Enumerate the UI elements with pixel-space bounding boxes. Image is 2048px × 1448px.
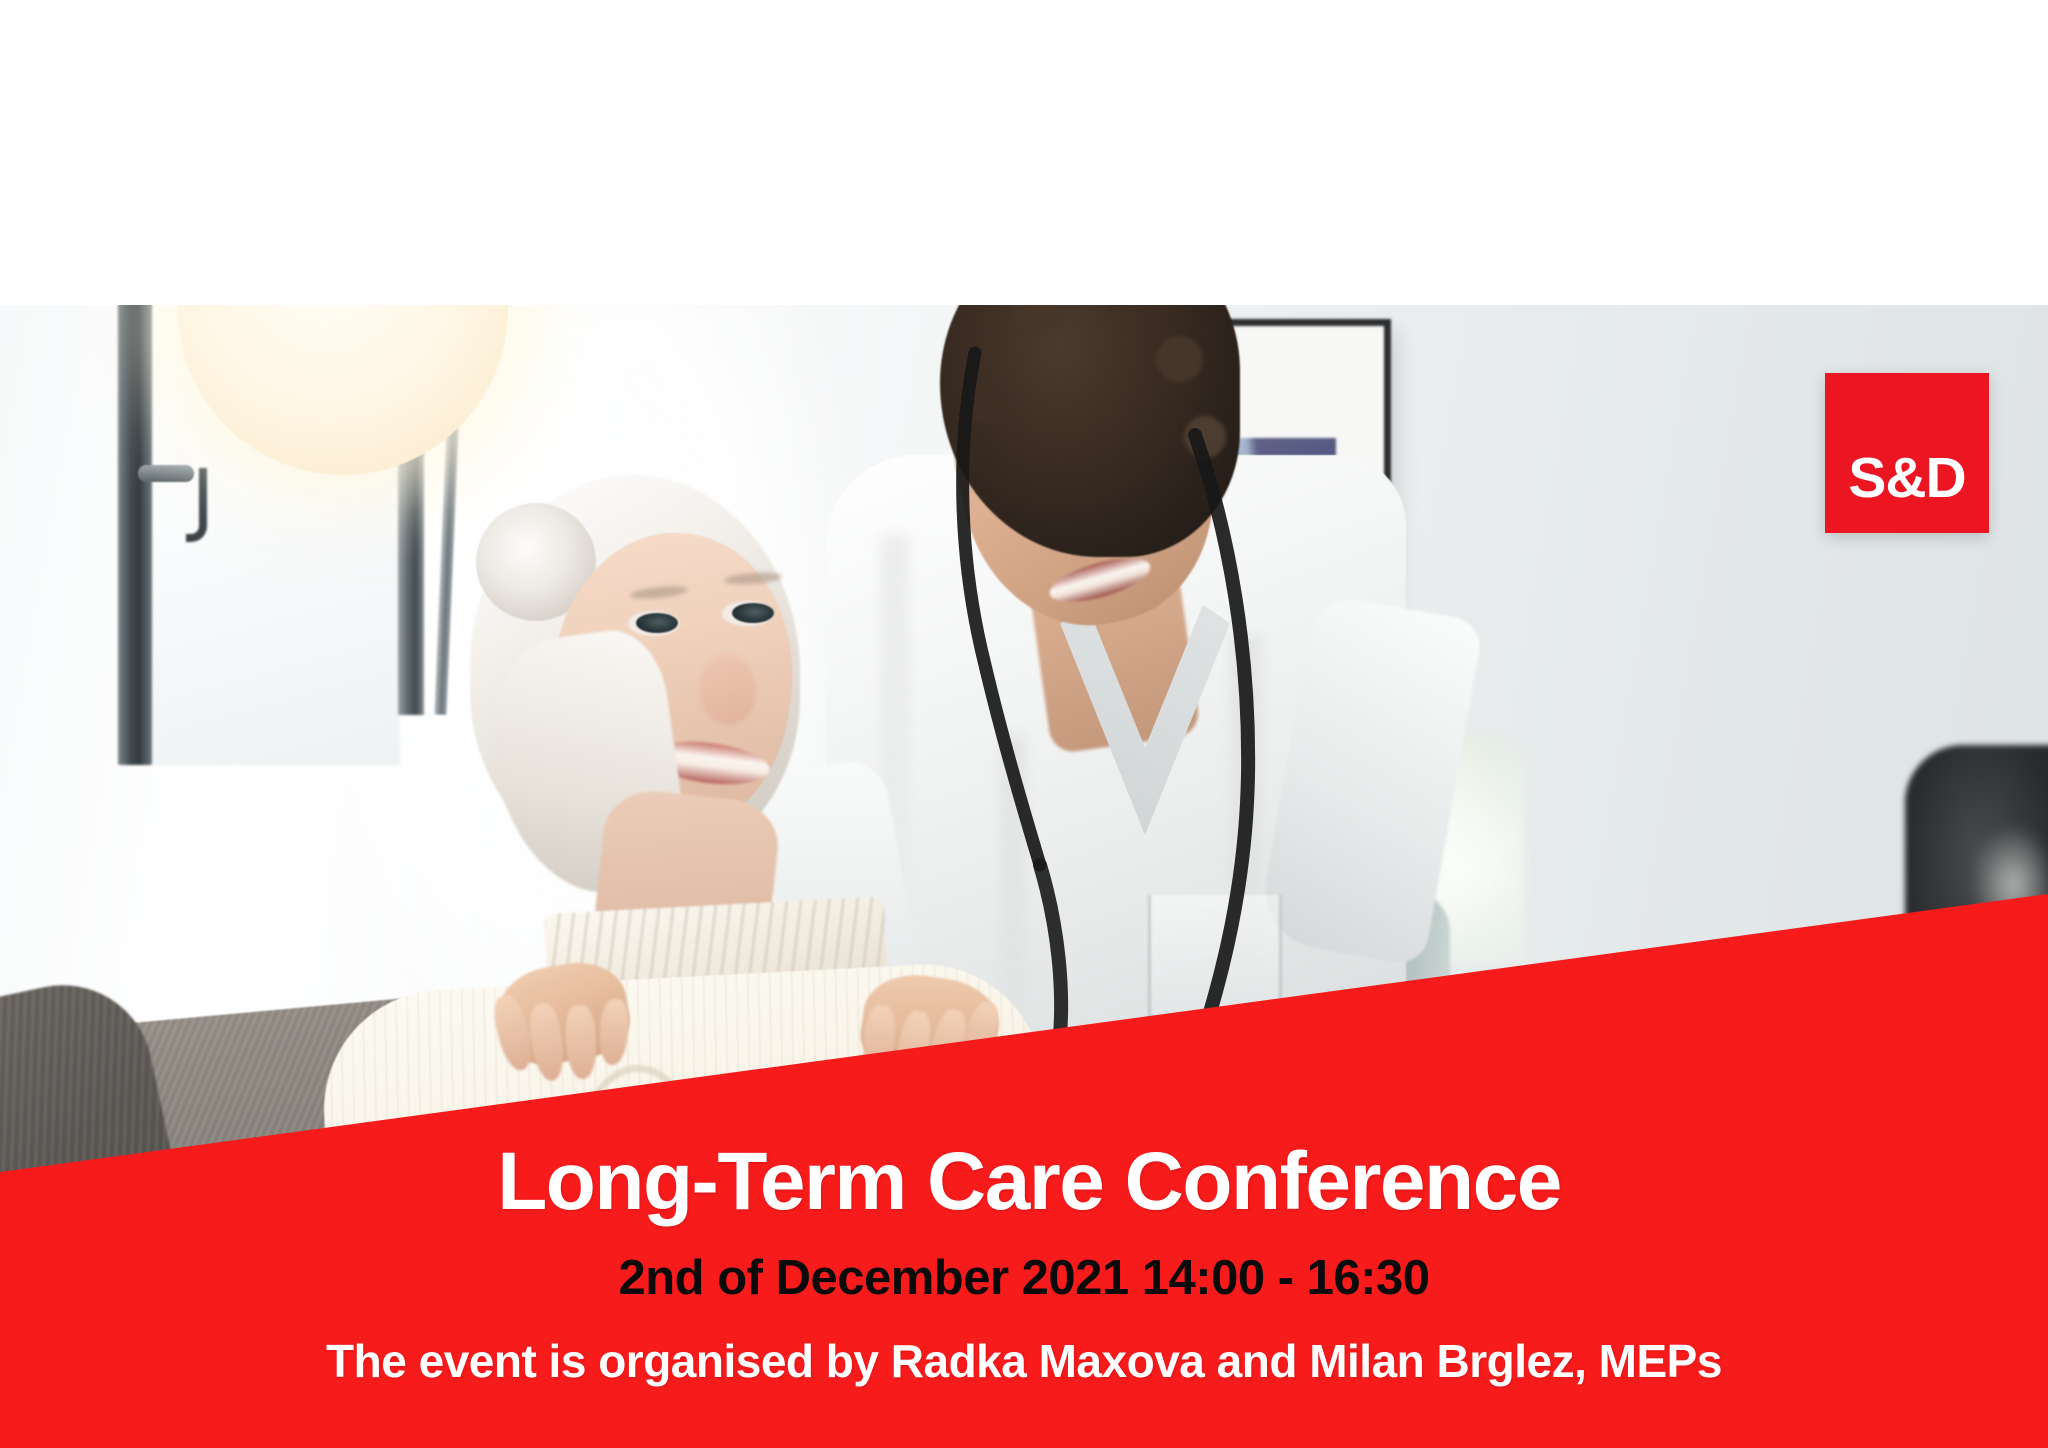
door-post-lower (152, 635, 182, 1075)
sd-logo[interactable]: S&D (1825, 373, 1989, 533)
sd-logo-text: S&D (1825, 450, 1989, 507)
top-white-margin (0, 0, 2048, 305)
page-title: Long-Term Care Conference (0, 1140, 2048, 1224)
elderly-woman-eye (636, 613, 678, 633)
conference-poster: S&D Long-Term Care Conference 2nd of Dec… (0, 0, 2048, 1448)
elderly-woman-nose (700, 655, 756, 725)
banner-text-block: Long-Term Care Conference 2nd of Decembe… (0, 1140, 2048, 1388)
event-datetime: 2nd of December 2021 14:00 - 16:30 (0, 1250, 2048, 1306)
elderly-woman-eye (732, 603, 774, 623)
balcony-door-frame-left (118, 305, 152, 765)
door-handle-tip (186, 468, 207, 542)
event-organisers: The event is organised by Radka Maxova a… (0, 1334, 2048, 1388)
